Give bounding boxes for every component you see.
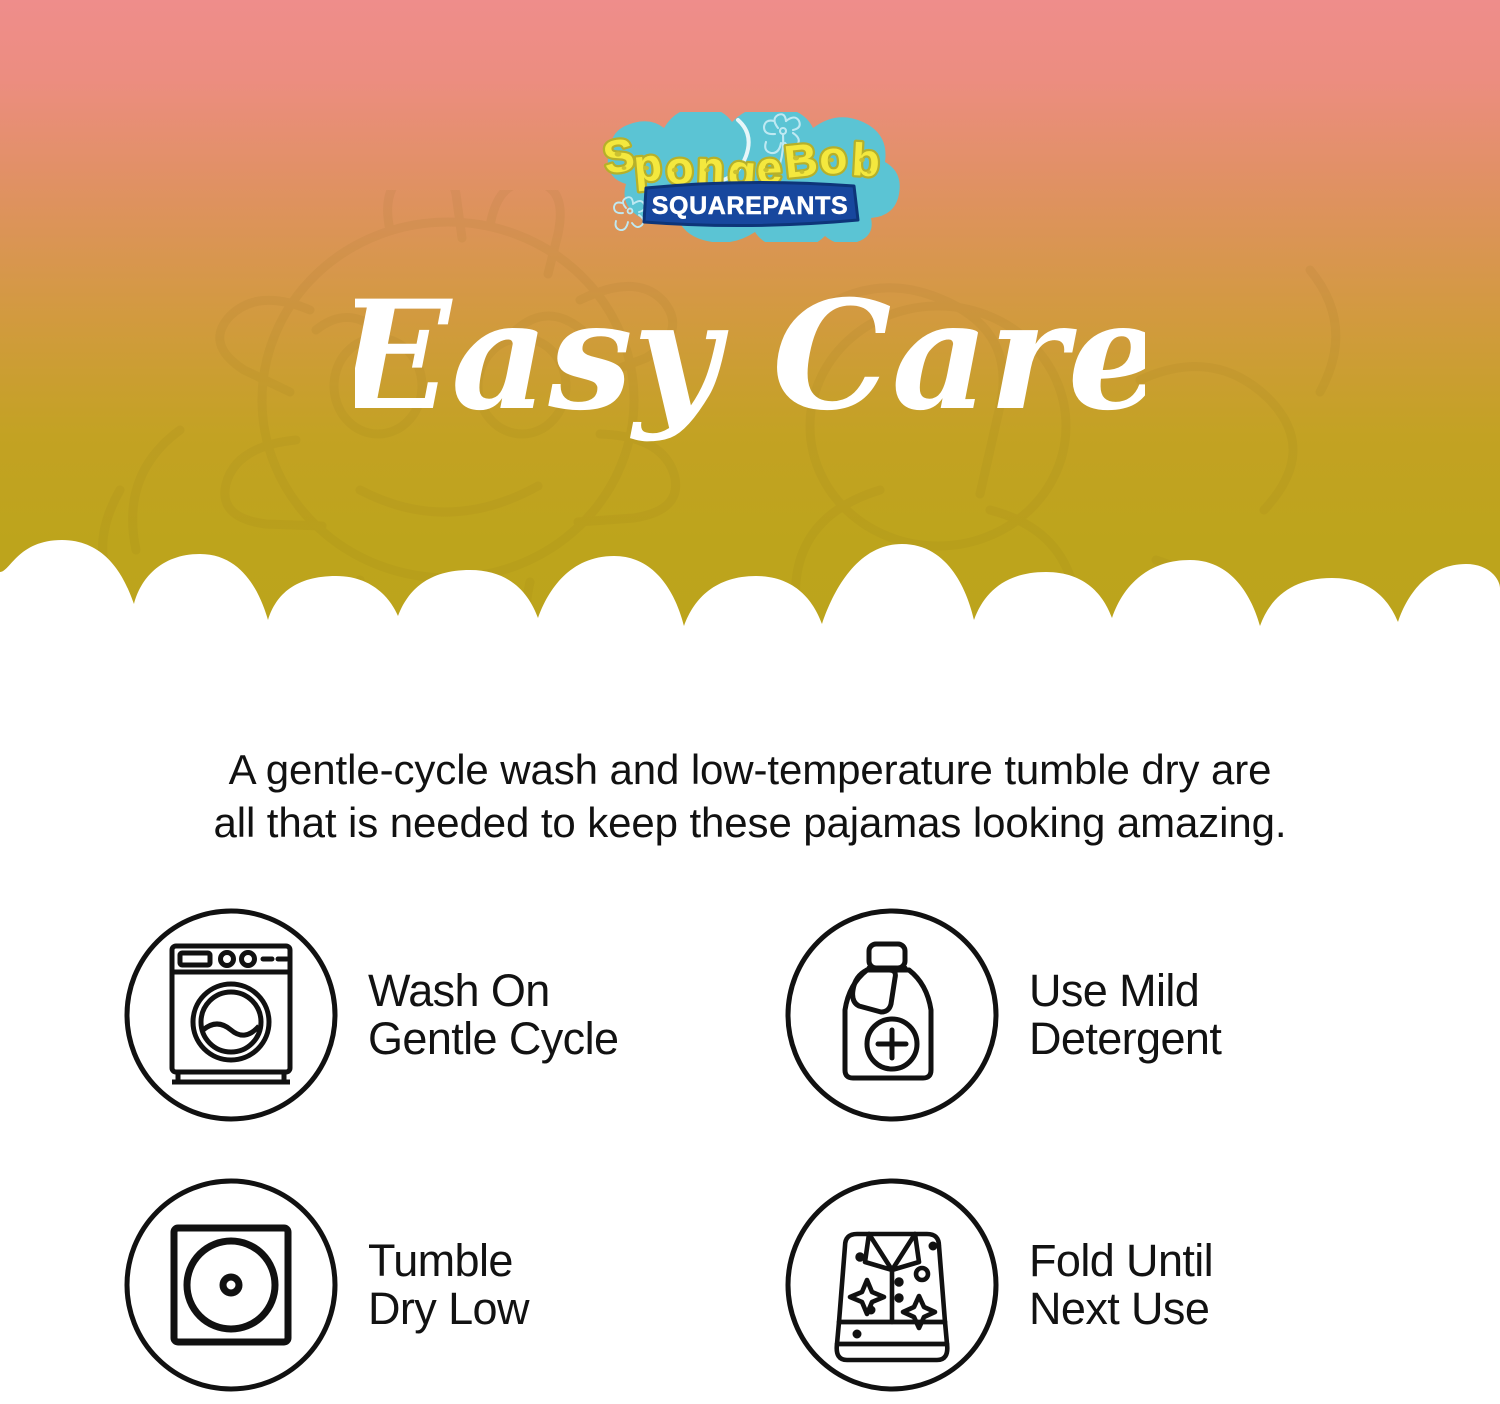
care-label-line-2: Next Use	[1029, 1285, 1213, 1333]
svg-text:SQUAREPANTS: SQUAREPANTS	[652, 192, 848, 220]
cloud-scallop-divider	[0, 532, 1500, 660]
svg-text:o: o	[818, 131, 849, 184]
care-label-use-mild-detergent: Use Mild Detergent	[1029, 967, 1221, 1062]
intro-paragraph: A gentle-cycle wash and low-temperature …	[0, 744, 1500, 850]
care-label-line-2: Dry Low	[368, 1285, 529, 1333]
care-item-wash-on-gentle-cycle: Wash On Gentle Cycle	[120, 880, 759, 1150]
care-label-wash-on-gentle-cycle: Wash On Gentle Cycle	[368, 967, 618, 1062]
care-item-tumble-dry-low: Tumble Dry Low	[120, 1150, 759, 1404]
folded-shirt-icon	[781, 1174, 1003, 1396]
logo-word-squarepants: SQUAREPANTS	[644, 182, 858, 225]
care-label-line-1: Wash On	[368, 965, 550, 1016]
hero-banner: S p o n g e B o b	[0, 0, 1500, 660]
svg-text:B: B	[782, 133, 820, 188]
care-label-tumble-dry-low: Tumble Dry Low	[368, 1237, 529, 1332]
washing-machine-icon	[120, 904, 342, 1126]
intro-line-1: A gentle-cycle wash and low-temperature …	[112, 744, 1388, 797]
care-instructions-grid: Wash On Gentle Cycle	[120, 880, 1420, 1404]
page-title: Easy Care	[0, 258, 1500, 468]
svg-text:p: p	[631, 138, 664, 192]
care-label-line-1: Fold Until	[1029, 1235, 1213, 1286]
care-label-line-1: Use Mild	[1029, 965, 1199, 1016]
care-item-use-mild-detergent: Use Mild Detergent	[781, 880, 1420, 1150]
detergent-bottle-icon	[781, 904, 1003, 1126]
care-label-line-2: Detergent	[1029, 1015, 1221, 1063]
svg-text:b: b	[850, 133, 881, 186]
care-item-fold-until-next-use: Fold Until Next Use	[781, 1150, 1420, 1404]
care-label-line-1: Tumble	[368, 1235, 513, 1286]
care-label-fold-until-next-use: Fold Until Next Use	[1029, 1237, 1213, 1332]
easy-care-infographic: S p o n g e B o b	[0, 0, 1500, 1404]
care-label-line-2: Gentle Cycle	[368, 1015, 618, 1063]
intro-line-2: all that is needed to keep these pajamas…	[112, 797, 1388, 850]
page-title-text: Easy Care	[355, 268, 1145, 444]
spongebob-squarepants-logo: S p o n g e B o b	[590, 112, 910, 242]
tumble-dry-low-icon	[120, 1174, 342, 1396]
